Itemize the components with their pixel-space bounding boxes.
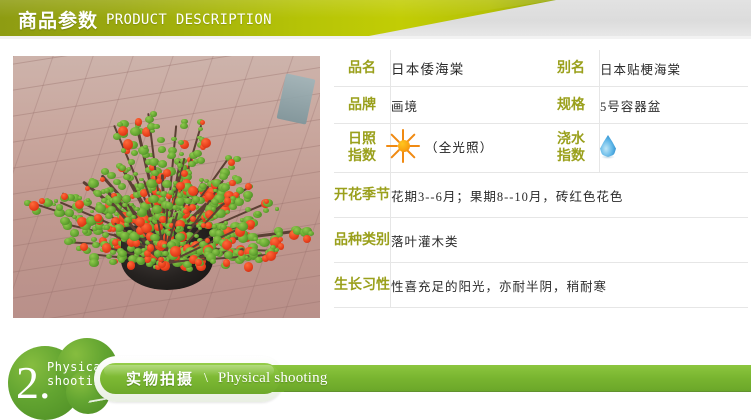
plant-leaf bbox=[238, 222, 248, 231]
plant-leaf bbox=[197, 157, 205, 163]
plant-leaf bbox=[259, 238, 270, 247]
water-drop-shadow bbox=[601, 155, 615, 159]
plant-leaf bbox=[134, 248, 142, 255]
plant-leaf bbox=[136, 257, 145, 264]
sun-index-note: （全光照） bbox=[425, 137, 494, 156]
spec-value-生长习性: 性喜充足的阳光，亦耐半阴，稍耐寒 bbox=[391, 263, 749, 308]
plant-leaf bbox=[65, 209, 74, 216]
spec-label-浇水指数: 浇水 指数 bbox=[543, 124, 600, 173]
table-row: 生长习性 性喜充足的阳光，亦耐半阴，稍耐寒 bbox=[334, 263, 748, 308]
spec-label-别名: 别名 bbox=[543, 50, 600, 87]
plant-leaf bbox=[118, 250, 126, 257]
plant-flower bbox=[266, 251, 276, 261]
table-row: 日照 指数 （全光照） bbox=[334, 124, 748, 173]
plant-flower bbox=[61, 193, 68, 200]
spec-value-品牌: 画境 bbox=[391, 87, 544, 124]
plant-leaf bbox=[134, 207, 139, 211]
plant-leaf bbox=[211, 199, 218, 205]
page-title-cn: 商品参数 bbox=[18, 6, 98, 33]
spec-label-日照指数: 日照 指数 bbox=[334, 124, 391, 173]
plant-leaf bbox=[86, 198, 90, 202]
plant-leaf bbox=[158, 160, 167, 168]
plant-leaf bbox=[178, 140, 184, 145]
plant-leaf bbox=[225, 210, 230, 214]
plant-leaf bbox=[176, 226, 181, 230]
spec-label-line2: 指数 bbox=[334, 148, 390, 165]
plant-leaf bbox=[188, 171, 192, 174]
plant-leaf bbox=[129, 203, 134, 207]
spec-label-line1: 浇水 bbox=[543, 131, 599, 148]
plant-flower bbox=[183, 209, 189, 215]
spec-label-品种类别: 品种类别 bbox=[334, 218, 391, 263]
plant-leaf bbox=[153, 124, 159, 129]
plant-flower bbox=[158, 257, 163, 262]
plant-flower bbox=[94, 214, 102, 222]
section-header-physical-shooting: 2. Physical shooting 实物拍摄 \ Physical sho… bbox=[0, 334, 751, 419]
plant-flower bbox=[195, 259, 202, 266]
spec-value-品种类别: 落叶灌木类 bbox=[391, 218, 749, 263]
plant-flower bbox=[135, 118, 142, 125]
plant-flower bbox=[80, 243, 88, 251]
plant-leaf bbox=[102, 232, 109, 238]
table-row: 品名 日本倭海棠 别名 日本贴梗海棠 bbox=[334, 50, 748, 87]
section-bar-baseline bbox=[284, 391, 751, 392]
plant-leaf bbox=[175, 233, 184, 241]
water-drop-body bbox=[600, 135, 616, 157]
plant-leaf bbox=[220, 224, 227, 230]
plant-leaf bbox=[162, 251, 168, 256]
spec-label-line1: 日照 bbox=[334, 131, 390, 148]
plant-leaf bbox=[192, 196, 200, 203]
header-title-group: 商品参数 PRODUCT DESCRIPTION bbox=[18, 0, 272, 38]
plant-flower bbox=[170, 246, 181, 257]
plant-leaf bbox=[120, 232, 129, 240]
plant-leaf bbox=[109, 259, 116, 265]
spec-label-生长习性: 生长习性 bbox=[334, 263, 391, 308]
plant-leaf bbox=[146, 179, 156, 188]
plant-leaf bbox=[193, 150, 202, 157]
spec-label-开花季节: 开花季节 bbox=[334, 173, 391, 218]
product-spec-table: 品名 日本倭海棠 别名 日本贴梗海棠 品牌 画境 规格 5号容器盆 日照 指数 bbox=[334, 50, 748, 308]
plant-leaf bbox=[184, 198, 192, 204]
table-row: 品牌 画境 规格 5号容器盆 bbox=[334, 87, 748, 124]
plant-leaf bbox=[177, 193, 183, 198]
plant-leaf bbox=[221, 184, 230, 191]
spec-value-别名: 日本贴梗海棠 bbox=[600, 50, 749, 87]
plant-leaf bbox=[275, 207, 279, 211]
plant-leaf bbox=[158, 146, 166, 153]
plant-leaf bbox=[64, 238, 72, 245]
plant-flower bbox=[118, 126, 128, 136]
plant-flower bbox=[245, 183, 252, 190]
plant-flower bbox=[228, 159, 235, 166]
section-title-separator: \ bbox=[204, 371, 208, 387]
plant-leaf bbox=[91, 237, 97, 242]
plant-flower bbox=[135, 217, 145, 227]
spec-label-品名: 品名 bbox=[334, 50, 391, 87]
plant-leaf bbox=[123, 174, 130, 180]
header-underline bbox=[0, 36, 751, 39]
plant-flower bbox=[102, 243, 111, 252]
plant-leaf bbox=[88, 179, 98, 188]
plant-leaf bbox=[149, 195, 159, 203]
spec-value-开花季节: 花期3--6月；果期8--10月，砖红色花色 bbox=[391, 173, 749, 218]
plant-leaf bbox=[127, 167, 132, 171]
plant-leaf bbox=[157, 137, 165, 143]
plant-leaf bbox=[54, 199, 58, 203]
plant-flower bbox=[238, 250, 244, 256]
plant-leaf bbox=[60, 217, 70, 226]
plant-leaf bbox=[162, 180, 172, 188]
plant-leaf bbox=[128, 159, 135, 164]
sun-icon bbox=[391, 133, 417, 159]
plant-leaf bbox=[70, 229, 79, 236]
sun-index-group: （全光照） bbox=[391, 133, 494, 159]
section-bar-text-group: 实物拍摄 \ Physical shooting bbox=[126, 366, 328, 391]
plant-leaf bbox=[90, 210, 94, 214]
table-row: 品种类别 落叶灌木类 bbox=[334, 218, 748, 263]
sun-core bbox=[398, 140, 410, 152]
plant-flower bbox=[176, 182, 185, 191]
plant-leaf bbox=[124, 222, 129, 226]
plant-leaf bbox=[263, 208, 269, 213]
spec-label-品牌: 品牌 bbox=[334, 87, 391, 124]
plant-leaf bbox=[101, 168, 109, 175]
plant-leaf bbox=[43, 199, 53, 207]
section-number: 2. bbox=[16, 360, 51, 406]
plant-leaf bbox=[179, 152, 184, 156]
plant-flower bbox=[39, 198, 45, 204]
table-row: 开花季节 花期3--6月；果期8--10月，砖红色花色 bbox=[334, 173, 748, 218]
section-title-cn: 实物拍摄 bbox=[126, 368, 194, 389]
spec-value-品名: 日本倭海棠 bbox=[391, 50, 544, 87]
plant-leaf bbox=[187, 226, 192, 230]
plant-leaf bbox=[151, 258, 156, 262]
plant-leaf bbox=[89, 259, 98, 267]
plant-leaf bbox=[245, 256, 249, 259]
plant-flower bbox=[247, 220, 255, 228]
plant-leaf bbox=[95, 204, 106, 213]
plant-leaf bbox=[245, 207, 251, 212]
plant-flower bbox=[205, 192, 213, 200]
spec-value-日照指数: （全光照） bbox=[391, 124, 544, 173]
section-title-en: Physical shooting bbox=[218, 370, 328, 387]
page-title-en: PRODUCT DESCRIPTION bbox=[106, 12, 272, 28]
plant-leaf bbox=[113, 179, 121, 186]
plant-leaf bbox=[118, 257, 126, 263]
plant-leaf bbox=[180, 123, 188, 129]
spec-label-规格: 规格 bbox=[543, 87, 600, 124]
page-header-banner: 商品参数 PRODUCT DESCRIPTION bbox=[0, 0, 751, 38]
water-drop-icon bbox=[600, 135, 616, 157]
spec-value-浇水指数 bbox=[600, 124, 749, 173]
spec-label-line2: 指数 bbox=[543, 148, 599, 165]
plant-leaf bbox=[150, 111, 157, 116]
plant-leaf bbox=[308, 231, 314, 236]
spec-value-规格: 5号容器盆 bbox=[600, 87, 749, 124]
plant-leaf bbox=[145, 116, 154, 123]
product-photo bbox=[13, 56, 320, 318]
plant-leaf bbox=[56, 204, 64, 210]
plant-flower bbox=[244, 262, 253, 271]
plant-leaf bbox=[165, 202, 173, 208]
